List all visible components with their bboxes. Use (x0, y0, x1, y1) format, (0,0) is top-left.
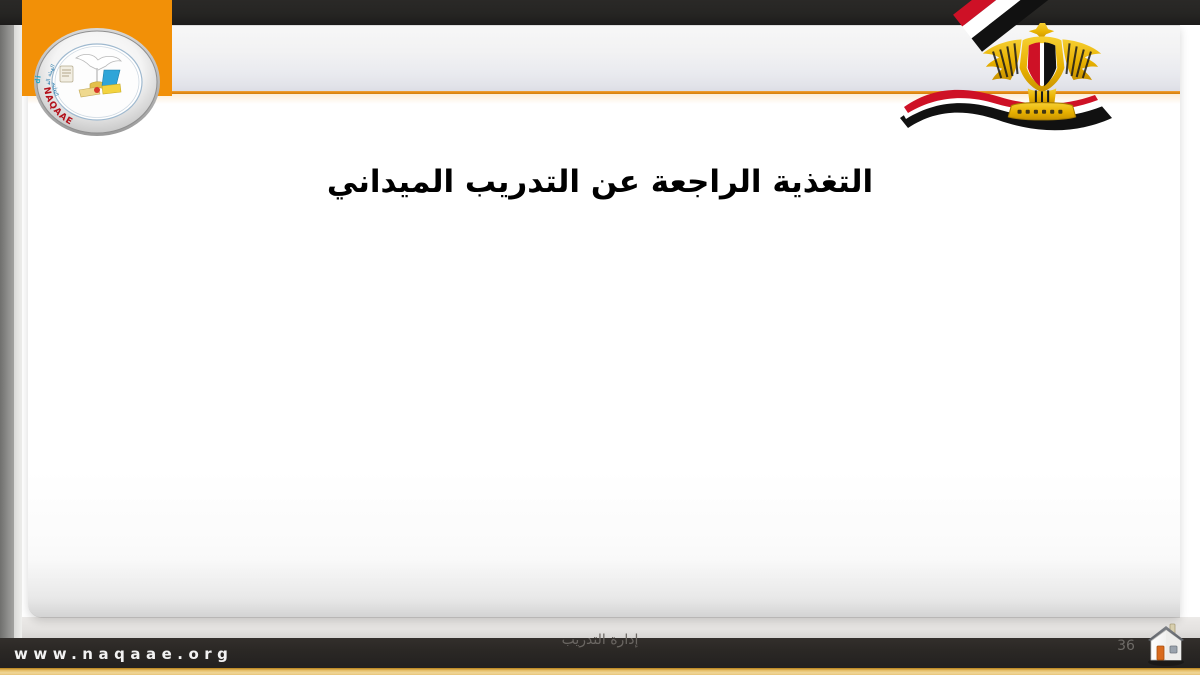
slide-title: التغذية الراجعة عن التدريب الميداني (0, 158, 1200, 206)
footer-gold-strip (0, 668, 1200, 675)
home-icon-glyph (1140, 616, 1192, 668)
orange-rule-glow (28, 94, 1180, 104)
orange-divider-rule (28, 91, 1180, 94)
footer-department-label: إدارة التدريب (0, 632, 1200, 648)
naqaae-logo[interactable]: National Authority for Quality Assurance… (24, 24, 170, 138)
home-icon[interactable] (1140, 616, 1192, 668)
left-gutter-highlight (14, 25, 22, 638)
slide-page-number: 36 (1112, 638, 1140, 654)
header-band (28, 25, 1180, 91)
top-dark-bar (0, 0, 1200, 25)
slide-canvas: National Authority for Quality Assurance… (0, 0, 1200, 675)
naqaae-seal-icon: National Authority for Quality Assurance… (24, 24, 170, 138)
